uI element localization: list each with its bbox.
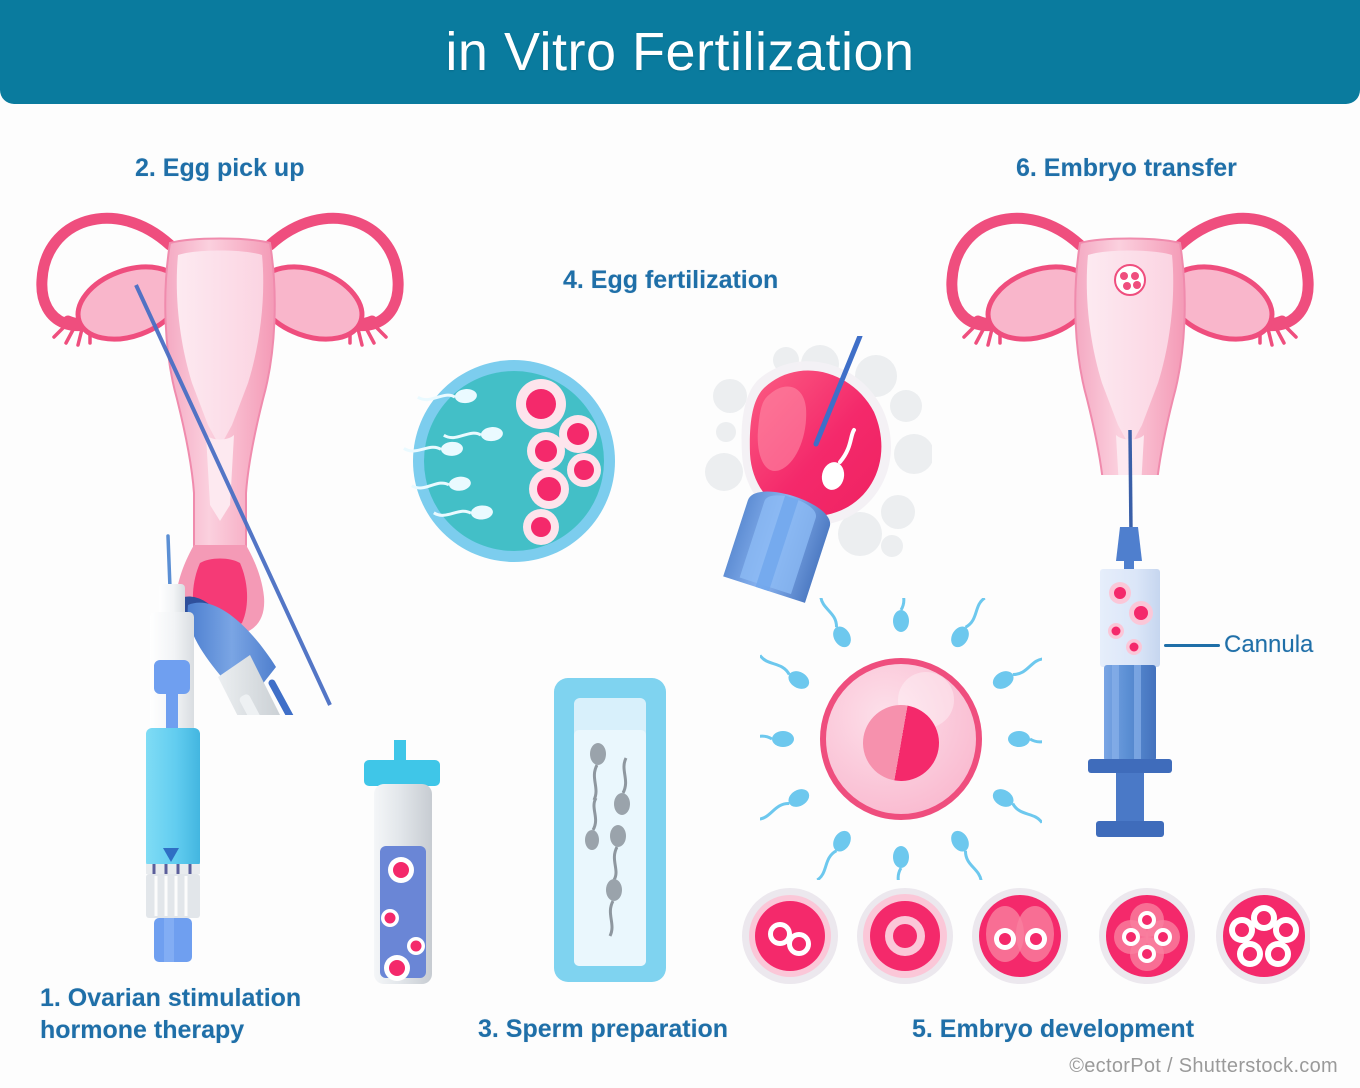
pen-ribbed-grip [146, 874, 200, 918]
icsi-injection-of-sperm [700, 336, 932, 606]
header-banner: in Vitro Fertilization [0, 0, 1360, 104]
embryo-stage-2-cell [972, 888, 1068, 984]
hormone-injection-pen [118, 530, 228, 970]
syringe-plunger-rod [1116, 773, 1144, 823]
egg-surrounded-by-sperm [760, 598, 1042, 880]
embryo-stage-pronuclei [742, 888, 838, 984]
step-5-label: 5. Embryo development [912, 1013, 1194, 1045]
syringe-needle-hub [1116, 527, 1142, 561]
cannula-label: Cannula [1224, 630, 1313, 661]
embryo-stage-zygote [857, 888, 953, 984]
embryo-stage-4-cell [1099, 888, 1195, 984]
syringe-barrel [1104, 665, 1156, 761]
step-3-label: 3. Sperm preparation [478, 1013, 728, 1045]
embryo-transfer-catheter [1100, 430, 1160, 540]
pen-needle [168, 536, 170, 588]
petri-dish-eggs-and-sperm [398, 358, 630, 568]
credit-watermark: ©ectorPot / Shutterstock.com [1069, 1055, 1338, 1078]
embryo-development-stages [742, 884, 1310, 988]
sperm-tube-liquid [574, 730, 646, 966]
vial-cap [364, 760, 440, 786]
step-1-label: 1. Ovarian stimulation hormone therapy [40, 982, 301, 1046]
page-title: in Vitro Fertilization [445, 25, 914, 79]
embryo-stage-morula [1216, 888, 1310, 984]
cannula-leader-line [1164, 644, 1220, 647]
implanted-embryo-icon [1115, 265, 1145, 295]
syringe-flange [1088, 759, 1172, 773]
step-6-label: 6. Embryo transfer [1016, 152, 1237, 184]
step-4-label: 4. Egg fertilization [563, 264, 778, 296]
syringe-thumb-rest [1096, 821, 1164, 837]
pen-cyan-body [146, 728, 200, 868]
embryo-transfer-syringe [1074, 527, 1184, 847]
step-2-label: 2. Egg pick up [135, 152, 304, 184]
egg-collection-vial [352, 740, 457, 990]
infographic-canvas: in Vitro Fertilization [0, 0, 1360, 1088]
sperm-preparation-tube [548, 672, 672, 988]
pen-needle-hub [159, 584, 185, 616]
